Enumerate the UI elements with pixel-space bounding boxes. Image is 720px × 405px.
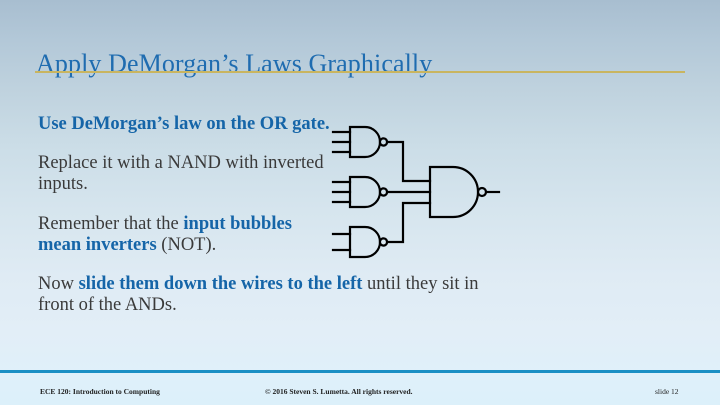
paragraph-remember-part3: (NOT). (157, 235, 217, 255)
paragraph-remember: Remember that the input bubbles mean inv… (38, 214, 338, 256)
footer-slide-number: slide 12 (655, 387, 679, 396)
footer-course-label: ECE 120: Introduction to Computing (40, 387, 160, 396)
nand-gate-top (333, 127, 387, 157)
paragraph-lead: Use DeMorgan’s law on the OR gate. (38, 114, 338, 135)
output-bubble-final (478, 188, 486, 196)
title-divider (35, 71, 685, 73)
footer-copyright-label: © 2016 Steven S. Lumetta. All rights res… (265, 387, 413, 396)
nand-gate-bottom (333, 227, 387, 257)
nand-gate-output (430, 167, 499, 217)
logic-circuit-diagram (325, 105, 525, 265)
paragraph-now-highlight: slide them down the wires to the left (79, 274, 363, 294)
body-content: Use DeMorgan’s law on the OR gate. Repla… (38, 95, 338, 327)
slide-canvas: Apply DeMorgan’s Laws Graphically Use De… (0, 0, 720, 405)
interconnect-wires (387, 142, 430, 242)
nand-gate-middle (333, 177, 387, 207)
paragraph-replace: Replace it with a NAND with inverted inp… (38, 153, 338, 195)
paragraph-now-part1: Now (38, 274, 79, 294)
paragraph-remember-part1: Remember that the (38, 214, 183, 234)
page-title: Apply DeMorgan’s Laws Graphically (36, 49, 432, 79)
paragraph-now: Now slide them down the wires to the lef… (38, 274, 508, 316)
footer-divider (0, 370, 720, 373)
